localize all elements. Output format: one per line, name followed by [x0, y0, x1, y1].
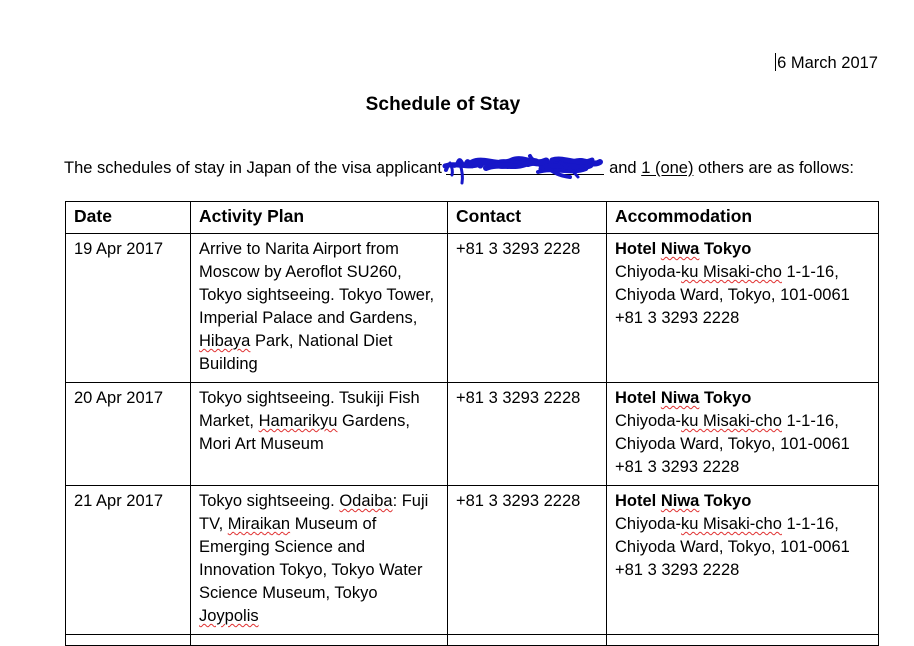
cell-contact: +81 3 3293 2228 [448, 486, 607, 635]
activity-text: Tokyo sightseeing. [199, 492, 339, 510]
table-row [66, 635, 879, 646]
acc-name-post: Tokyo [699, 240, 751, 258]
accommodation-address-line1: Chiyoda-ku Misaki-cho 1-1-16, [615, 410, 870, 433]
accommodation-address-line2: Chiyoda Ward, Tokyo, 101-0061 [615, 536, 870, 559]
acc-name-pre: Hotel [615, 389, 661, 407]
misspelled-word: ku Misaki-cho [681, 263, 782, 281]
misspelled-word: Niwa [661, 389, 700, 407]
acc-name-post: Tokyo [699, 492, 751, 510]
page-title: Schedule of Stay [0, 94, 914, 116]
accommodation-name: Hotel Niwa Tokyo [615, 387, 870, 410]
intro-text-part1: The schedules of stay in Japan of the vi… [64, 159, 446, 177]
accommodation-address-line1: Chiyoda-ku Misaki-cho 1-1-16, [615, 513, 870, 536]
acc-addr-pre: Chiyoda- [615, 412, 681, 430]
table-header-row: Date Activity Plan Contact Accommodation [66, 202, 879, 234]
acc-name-pre: Hotel [615, 492, 661, 510]
misspelled-word: ku Misaki-cho [681, 515, 782, 533]
cell-date: 19 Apr 2017 [66, 234, 191, 383]
column-header-accommodation: Accommodation [607, 202, 879, 234]
accommodation-address-line2: Chiyoda Ward, Tokyo, 101-0061 [615, 284, 870, 307]
intro-paragraph: The schedules of stay in Japan of the vi… [64, 155, 854, 181]
misspelled-word: Joypolis [199, 607, 259, 625]
document-date-text: 6 March 2017 [777, 54, 878, 72]
misspelled-word: Niwa [661, 240, 700, 258]
misspelled-word: Niwa [661, 492, 700, 510]
intro-others-count: 1 (one) [641, 159, 693, 177]
cell-contact: +81 3 3293 2228 [448, 234, 607, 383]
misspelled-word: Hamarikyu [259, 412, 338, 430]
table-row: 20 Apr 2017 Tokyo sightseeing. Tsukiji F… [66, 383, 879, 486]
accommodation-address-line2: Chiyoda Ward, Tokyo, 101-0061 [615, 433, 870, 456]
table-row: 19 Apr 2017 Arrive to Narita Airport fro… [66, 234, 879, 383]
intro-text-part3: others are as follows: [693, 159, 854, 177]
cell-date: 20 Apr 2017 [66, 383, 191, 486]
cell-accommodation [607, 635, 879, 646]
column-header-activity-plan: Activity Plan [191, 202, 448, 234]
cell-activity-plan: Tokyo sightseeing. Tsukiji Fish Market, … [191, 383, 448, 486]
cell-date: 21 Apr 2017 [66, 486, 191, 635]
acc-addr-post: 1-1-16, [782, 515, 839, 533]
column-header-date: Date [66, 202, 191, 234]
document-page: 6 March 2017 Schedule of Stay The schedu… [0, 0, 914, 608]
activity-text: Arrive to Narita Airport from Moscow by … [199, 240, 434, 327]
acc-addr-pre: Chiyoda- [615, 263, 681, 281]
cell-contact: +81 3 3293 2228 [448, 383, 607, 486]
acc-addr-post: 1-1-16, [782, 412, 839, 430]
document-date: 6 March 2017 [775, 52, 878, 74]
misspelled-word: Hibaya [199, 332, 250, 350]
cell-activity-plan: Tokyo sightseeing. Odaiba: Fuji TV, Mira… [191, 486, 448, 635]
cell-contact [448, 635, 607, 646]
blue-scribble-icon [442, 150, 612, 184]
cell-date [66, 635, 191, 646]
page-title-text: Schedule of Stay [366, 94, 521, 116]
misspelled-word: Miraikan [228, 515, 290, 533]
acc-addr-pre: Chiyoda- [615, 515, 681, 533]
text-caret [775, 53, 776, 71]
table-row: 21 Apr 2017 Tokyo sightseeing. Odaiba: F… [66, 486, 879, 635]
accommodation-address-line1: Chiyoda-ku Misaki-cho 1-1-16, [615, 261, 870, 284]
accommodation-name: Hotel Niwa Tokyo [615, 238, 870, 261]
cell-accommodation: Hotel Niwa Tokyo Chiyoda-ku Misaki-cho 1… [607, 383, 879, 486]
misspelled-word: ku Misaki-cho [681, 412, 782, 430]
acc-addr-post: 1-1-16, [782, 263, 839, 281]
accommodation-phone: +81 3 3293 2228 [615, 559, 870, 582]
acc-name-pre: Hotel [615, 240, 661, 258]
schedule-table: Date Activity Plan Contact Accommodation… [65, 201, 879, 646]
misspelled-word: Odaiba [339, 492, 392, 510]
acc-name-post: Tokyo [699, 389, 751, 407]
redacted-applicant-name [446, 157, 604, 177]
column-header-contact: Contact [448, 202, 607, 234]
cell-activity-plan: Arrive to Narita Airport from Moscow by … [191, 234, 448, 383]
accommodation-name: Hotel Niwa Tokyo [615, 490, 870, 513]
accommodation-phone: +81 3 3293 2228 [615, 307, 870, 330]
cell-accommodation: Hotel Niwa Tokyo Chiyoda-ku Misaki-cho 1… [607, 486, 879, 635]
accommodation-phone: +81 3 3293 2228 [615, 456, 870, 479]
cell-accommodation: Hotel Niwa Tokyo Chiyoda-ku Misaki-cho 1… [607, 234, 879, 383]
cell-activity-plan [191, 635, 448, 646]
